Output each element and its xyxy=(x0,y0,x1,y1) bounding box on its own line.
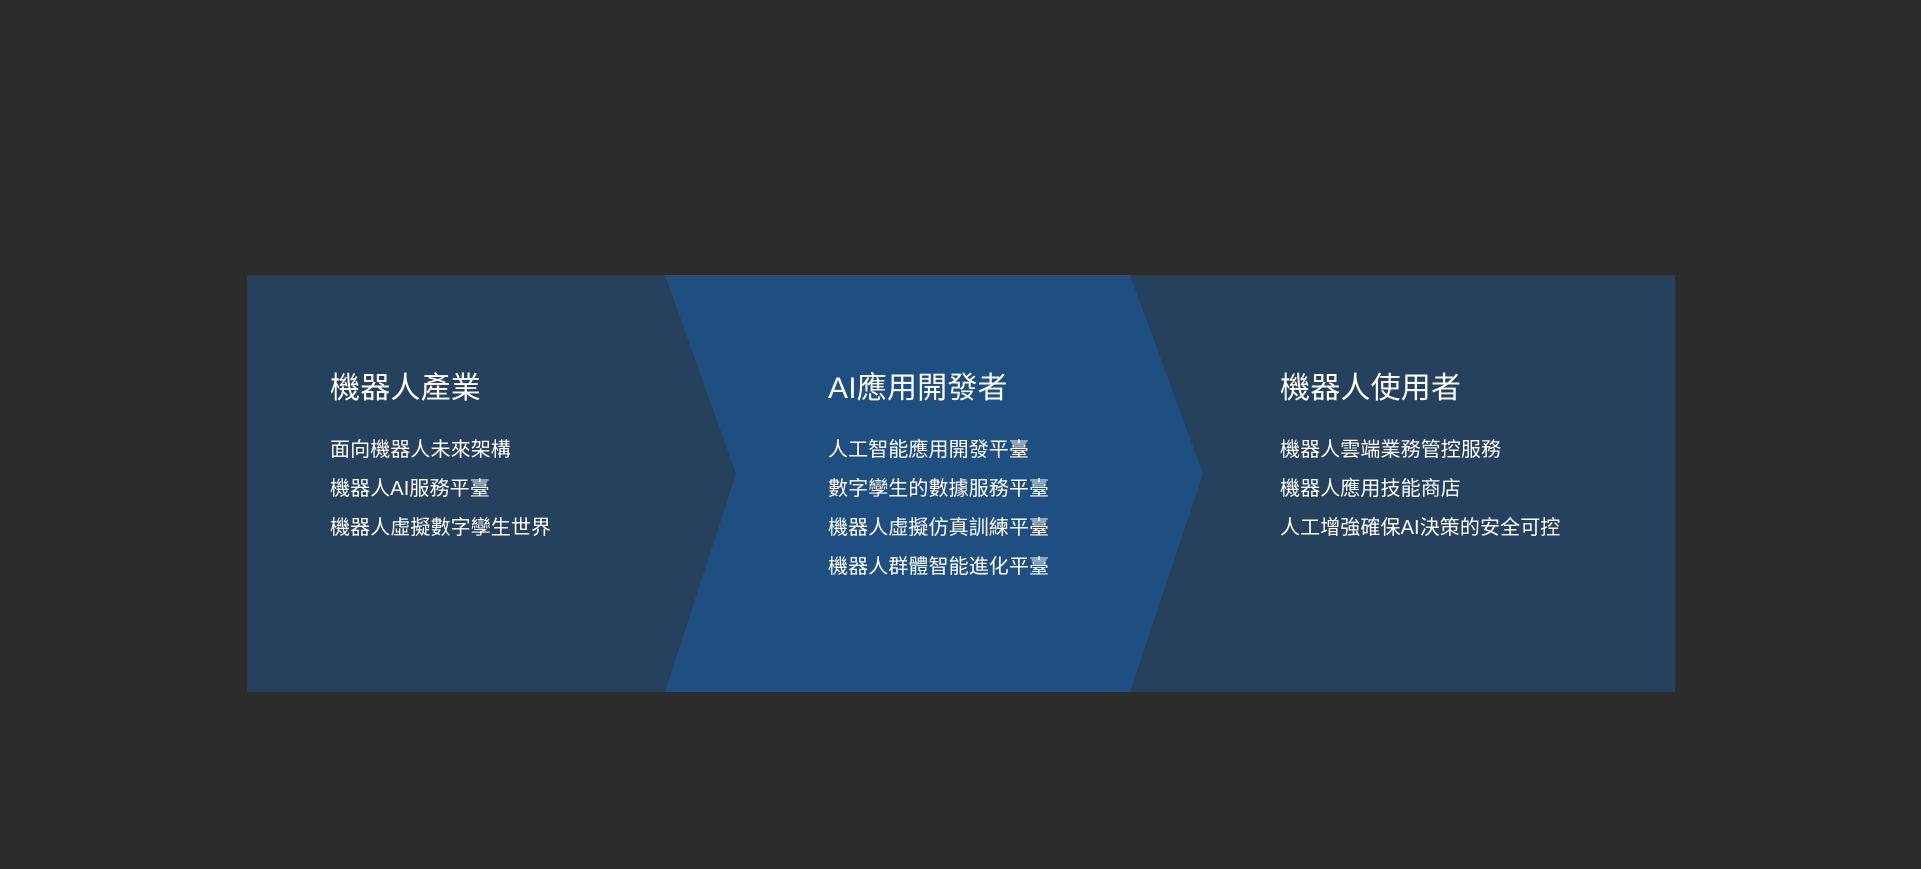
list-item: 機器人虛擬仿真訓練平臺 xyxy=(828,512,1049,544)
list-item: 面向機器人未來架構 xyxy=(330,434,551,466)
slide-canvas: 機器人產業 面向機器人未來架構 機器人AI服務平臺 機器人虛擬數字孿生世界 AI… xyxy=(0,0,1921,869)
chevron-banner: 機器人產業 面向機器人未來架構 機器人AI服務平臺 機器人虛擬數字孿生世界 AI… xyxy=(247,275,1675,692)
list-item: 機器人應用技能商店 xyxy=(1280,473,1560,505)
list-item: 數字孿生的數據服務平臺 xyxy=(828,473,1049,505)
column-robot-industry: 機器人產業 面向機器人未來架構 機器人AI服務平臺 機器人虛擬數字孿生世界 xyxy=(330,275,710,692)
column-heading: 機器人使用者 xyxy=(1280,370,1461,408)
column-item-list: 機器人雲端業務管控服務 機器人應用技能商店 人工增強確保AI決策的安全可控 xyxy=(1280,434,1560,544)
list-item: 機器人AI服務平臺 xyxy=(330,473,551,505)
column-robot-user: 機器人使用者 機器人雲端業務管控服務 機器人應用技能商店 人工增強確保AI決策的… xyxy=(1280,275,1660,692)
column-item-list: 面向機器人未來架構 機器人AI服務平臺 機器人虛擬數字孿生世界 xyxy=(330,434,551,544)
list-item: 機器人虛擬數字孿生世界 xyxy=(330,512,551,544)
list-item: 機器人雲端業務管控服務 xyxy=(1280,434,1560,466)
list-item: 人工智能應用開發平臺 xyxy=(828,434,1049,466)
column-item-list: 人工智能應用開發平臺 數字孿生的數據服務平臺 機器人虛擬仿真訓練平臺 機器人群體… xyxy=(828,434,1049,583)
list-item: 機器人群體智能進化平臺 xyxy=(828,551,1049,583)
column-heading: 機器人產業 xyxy=(330,370,481,408)
column-ai-app-developer: AI應用開發者 人工智能應用開發平臺 數字孿生的數據服務平臺 機器人虛擬仿真訓練… xyxy=(828,275,1228,692)
column-heading: AI應用開發者 xyxy=(828,370,1008,408)
list-item: 人工增強確保AI決策的安全可控 xyxy=(1280,512,1560,544)
